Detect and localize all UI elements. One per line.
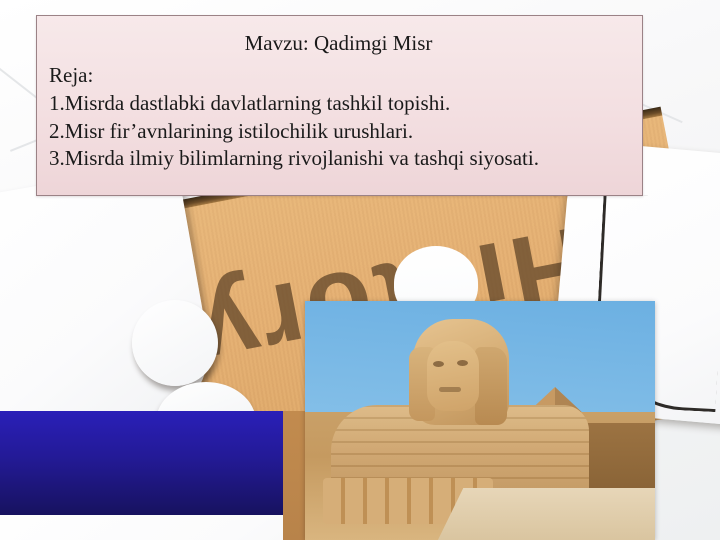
list-item: 1.Misrda dastlabki davlatlarning tashkil… (49, 90, 628, 118)
sphinx-photo (305, 301, 655, 540)
sphinx-eye-left (433, 361, 444, 367)
sphinx-headdress-right (475, 347, 507, 425)
list-item: 2.Misr fir’avnlarining istilochilik urus… (49, 118, 628, 146)
content-panel: Mavzu: Qadimgi Misr Reja: 1.Misrda dastl… (36, 15, 643, 196)
sphinx-eye-right (457, 360, 468, 366)
plan-label: Reja: (49, 62, 628, 90)
tan-vertical-bar (283, 411, 305, 540)
plan-list: 1.Misrda dastlabki davlatlarning tashkil… (49, 90, 628, 173)
slide-canvas: History Re period Mavzu: Qadimgi Misr Re… (0, 0, 720, 540)
photo-walkway (435, 488, 655, 540)
white-puzzle-piece-tab (132, 300, 218, 386)
list-item: 3.Misrda ilmiy bilimlarning rivojlanishi… (49, 145, 628, 173)
sphinx-face (427, 341, 479, 411)
page-title: Mavzu: Qadimgi Misr (49, 30, 628, 56)
blue-gradient-block (0, 411, 283, 515)
sphinx-mouth (439, 387, 461, 392)
